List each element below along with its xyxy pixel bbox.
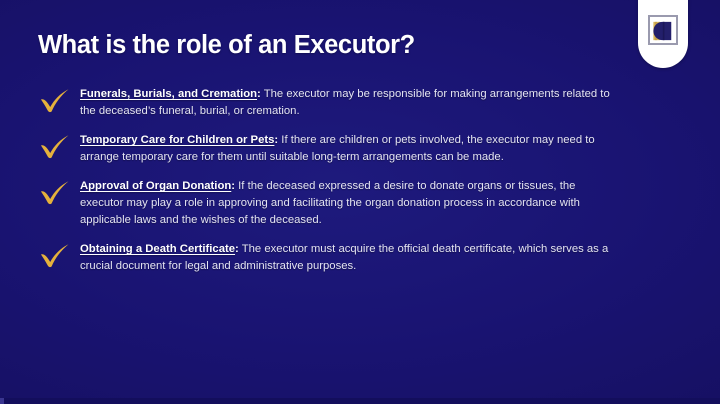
slide-canvas: What is the role of an Executor? Funeral… xyxy=(0,0,720,404)
list-item-text: Funerals, Burials, and Cremation: The ex… xyxy=(80,86,620,119)
list-item: Temporary Care for Children or Pets: If … xyxy=(38,132,658,165)
check-icon xyxy=(38,88,72,114)
list-item-text: Obtaining a Death Certificate: The execu… xyxy=(80,241,620,274)
list-item-text: Approval of Organ Donation: If the decea… xyxy=(80,178,620,228)
list-item-label: Approval of Organ Donation xyxy=(80,180,231,192)
logo-monogram xyxy=(648,15,678,45)
list-item-text: Temporary Care for Children or Pets: If … xyxy=(80,132,620,165)
list-item-label: Obtaining a Death Certificate xyxy=(80,243,235,255)
list-item-label: Temporary Care for Children or Pets xyxy=(80,134,274,146)
list-item: Approval of Organ Donation: If the decea… xyxy=(38,178,658,228)
logo-pillar-and-c-glyph xyxy=(652,19,674,43)
bottom-rail xyxy=(0,398,720,404)
list-item: Obtaining a Death Certificate: The execu… xyxy=(38,241,658,274)
bottom-rail-tick xyxy=(0,398,4,404)
law-firm-shield-logo xyxy=(638,0,688,68)
page-title: What is the role of an Executor? xyxy=(38,31,415,60)
check-icon xyxy=(38,243,72,269)
list-item: Funerals, Burials, and Cremation: The ex… xyxy=(38,86,658,119)
check-icon xyxy=(38,134,72,160)
bullet-list: Funerals, Burials, and Cremation: The ex… xyxy=(38,86,658,287)
list-item-label: Funerals, Burials, and Cremation xyxy=(80,88,257,100)
check-icon xyxy=(38,180,72,206)
